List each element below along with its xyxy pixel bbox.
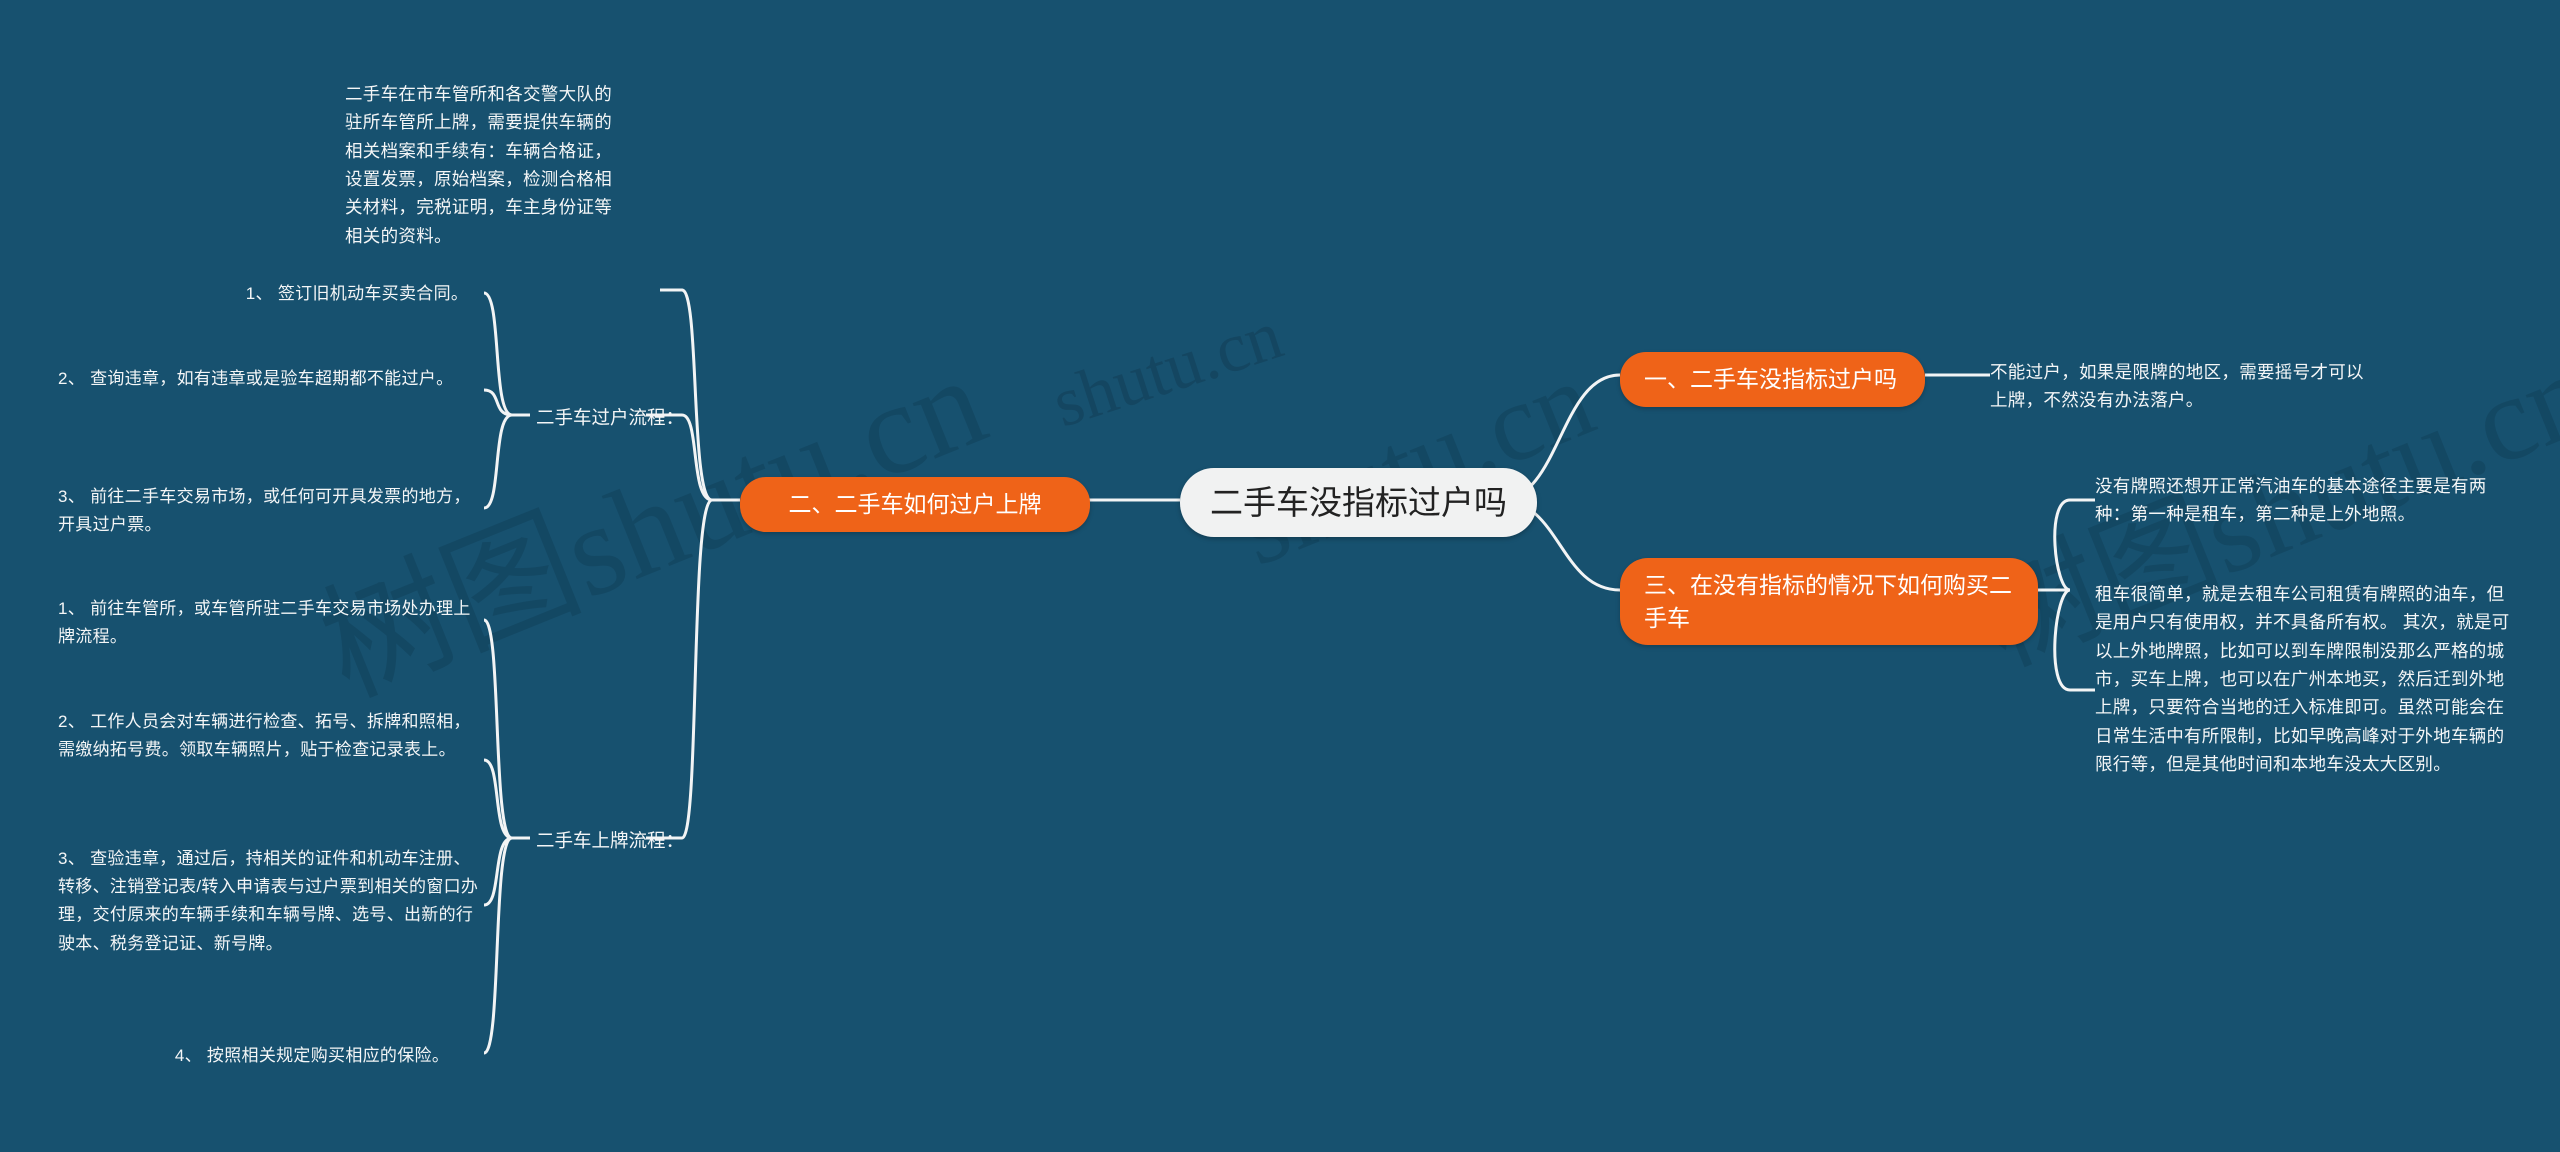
mindmap-canvas: 树图shutu.cn shutu.cn shutu.cn 树图shutu.cn (0, 0, 2560, 1152)
topic-node-1[interactable]: 一、二手车没指标过户吗 (1620, 352, 1925, 407)
group-label-plate-process: 二手车上牌流程： (536, 827, 684, 853)
plate-step-1: 1、 前往车管所，或车管所驻二手车交易市场处办理上牌流程。 (58, 595, 484, 651)
connector-left-fan (682, 290, 712, 838)
connector-group1-fan (484, 293, 512, 508)
transfer-step-1-text: 1、 签订旧机动车买卖合同。 (246, 284, 468, 303)
topic-node-3[interactable]: 三、在没有指标的情况下如何购买二手车 (1620, 558, 2038, 645)
group-label-transfer-process-text: 二手车过户流程： (536, 407, 684, 428)
topic-node-1-label: 一、二手车没指标过户吗 (1644, 366, 1897, 392)
topic-node-2[interactable]: 二、二手车如何过户上牌 (740, 477, 1090, 532)
connector-node3-to-detail2 (2055, 590, 2070, 690)
topic-3-detail-1: 没有牌照还想开正常汽油车的基本途径主要是有两种：第一种是租车，第二种是上外地照。 (2095, 472, 2513, 529)
plate-step-1-text: 1、 前往车管所，或车管所驻二手车交易市场处办理上牌流程。 (58, 599, 471, 646)
transfer-step-2: 2、 查询违章，如有违章或是验车超期都不能过户。 (58, 365, 484, 393)
topic-1-detail-text: 不能过户，如果是限牌的地区，需要摇号才可以上牌，不然没有办法落户。 (1990, 362, 2364, 410)
watermark-text: shutu.cn (1220, 335, 1610, 591)
plate-step-4: 4、 按照相关规定购买相应的保险。 (140, 1042, 484, 1070)
connector-node3-to-detail1 (2055, 500, 2070, 590)
group-label-transfer-process: 二手车过户流程： (536, 404, 684, 430)
transfer-step-2-text: 2、 查询违章，如有违章或是验车超期都不能过户。 (58, 369, 453, 388)
left-branch-intro-text: 二手车在市车管所和各交警大队的驻所车管所上牌，需要提供车辆的相关档案和手续有：车… (345, 84, 612, 246)
center-node[interactable]: 二手车没指标过户吗 (1180, 468, 1537, 537)
topic-1-detail: 不能过户，如果是限牌的地区，需要摇号才可以上牌，不然没有办法落户。 (1990, 358, 2370, 415)
plate-step-3-text: 3、 查验违章，通过后，持相关的证件和机动车注册、转移、注销登记表/转入申请表与… (58, 849, 478, 953)
topic-3-detail-1-text: 没有牌照还想开正常汽油车的基本途径主要是有两种：第一种是租车，第二种是上外地照。 (2095, 476, 2487, 524)
plate-step-2-text: 2、 工作人员会对车辆进行检查、拓号、拆牌和照相，需缴纳拓号费。领取车辆照片，贴… (58, 712, 471, 759)
transfer-step-3-text: 3、 前往二手车交易市场，或任何可开具发票的地方，开具过户票。 (58, 487, 471, 534)
transfer-step-1: 1、 签订旧机动车买卖合同。 (230, 280, 484, 308)
topic-3-detail-2-text: 租车很简单，就是去租车公司租赁有牌照的油车，但是用户只有使用权，并不具备所有权。… (2095, 584, 2510, 774)
topic-node-2-label: 二、二手车如何过户上牌 (789, 491, 1042, 517)
connector-group2-fan (484, 620, 512, 1053)
topic-node-3-label: 三、在没有指标的情况下如何购买二手车 (1644, 572, 2012, 631)
plate-step-2: 2、 工作人员会对车辆进行检查、拓号、拆牌和照相，需缴纳拓号费。领取车辆照片，贴… (58, 708, 484, 764)
transfer-step-3: 3、 前往二手车交易市场，或任何可开具发票的地方，开具过户票。 (58, 483, 484, 539)
plate-step-3: 3、 查验违章，通过后，持相关的证件和机动车注册、转移、注销登记表/转入申请表与… (58, 845, 484, 958)
group-label-plate-process-text: 二手车上牌流程： (536, 830, 684, 851)
left-branch-intro: 二手车在市车管所和各交警大队的驻所车管所上牌，需要提供车辆的相关档案和手续有：车… (345, 80, 615, 250)
center-node-label: 二手车没指标过户吗 (1210, 484, 1507, 521)
watermark-text: shutu.cn (1043, 296, 1291, 445)
plate-step-4-text: 4、 按照相关规定购买相应的保险。 (175, 1046, 449, 1065)
topic-3-detail-2: 租车很简单，就是去租车公司租赁有牌照的油车，但是用户只有使用权，并不具备所有权。… (2095, 580, 2513, 778)
